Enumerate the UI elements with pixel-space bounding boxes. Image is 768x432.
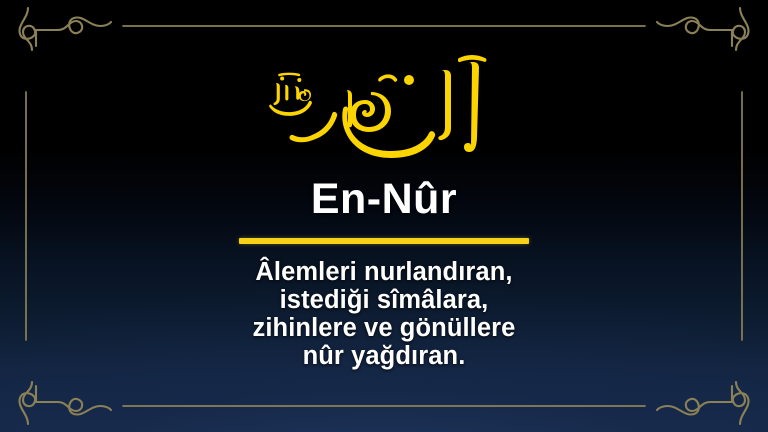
calligraphy-glyphs <box>259 44 509 172</box>
description-line: zihinlere ve gönüllere <box>253 314 516 342</box>
card-content: En-Nûr Âlemleri nurlandıran, istediği sî… <box>0 0 768 432</box>
name-of-allah-card: En-Nûr Âlemleri nurlandıran, istediği sî… <box>0 0 768 432</box>
description-line: nûr yağdıran. <box>253 342 516 370</box>
title-divider <box>239 238 529 244</box>
page-title: En-Nûr <box>311 178 457 221</box>
description-line: Âlemleri nurlandıran, <box>253 258 516 286</box>
description-text: Âlemleri nurlandıran, istediği sîmâlara,… <box>253 258 516 370</box>
description-line: istediği sîmâlara, <box>253 286 516 314</box>
arabic-calligraphy-an-nur <box>234 44 534 172</box>
